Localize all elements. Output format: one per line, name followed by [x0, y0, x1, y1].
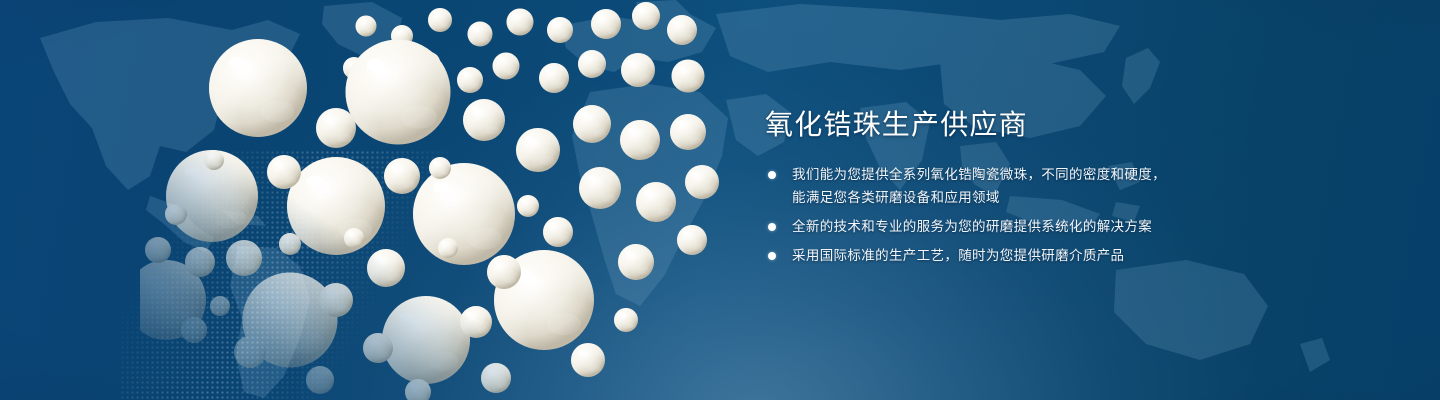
- bullet-dot-icon: [768, 252, 776, 260]
- list-item-line-1: 采用国际标准的生产工艺，随时为您提供研磨介质产品: [792, 248, 1124, 263]
- hero-banner: 氧化锆珠生产供应商 我们能为您提供全系列氧化锆陶瓷微珠，不同的密度和硬度， 能满…: [0, 0, 1440, 400]
- list-item-line-2: 能满足您各类研磨设备和应用领域: [792, 186, 1285, 209]
- list-item: 采用国际标准的生产工艺，随时为您提供研磨介质产品: [765, 244, 1285, 267]
- feature-list: 我们能为您提供全系列氧化锆陶瓷微珠，不同的密度和硬度， 能满足您各类研磨设备和应…: [765, 163, 1285, 267]
- list-item-line-1: 全新的技术和专业的服务为您的研磨提供系统化的解决方案: [792, 219, 1152, 234]
- list-item-text: 我们能为您提供全系列氧化锆陶瓷微珠，不同的密度和硬度， 能满足您各类研磨设备和应…: [792, 163, 1285, 209]
- page-title: 氧化锆珠生产供应商: [765, 108, 1285, 141]
- list-item: 全新的技术和专业的服务为您的研磨提供系统化的解决方案: [765, 215, 1285, 238]
- bullet-dot-icon: [768, 223, 776, 231]
- list-item-text: 全新的技术和专业的服务为您的研磨提供系统化的解决方案: [792, 215, 1285, 238]
- bullet-dot-icon: [768, 171, 776, 179]
- list-item-text: 采用国际标准的生产工艺，随时为您提供研磨介质产品: [792, 244, 1285, 267]
- list-item: 我们能为您提供全系列氧化锆陶瓷微珠，不同的密度和硬度， 能满足您各类研磨设备和应…: [765, 163, 1285, 209]
- list-item-line-1: 我们能为您提供全系列氧化锆陶瓷微珠，不同的密度和硬度，: [792, 167, 1166, 182]
- banner-copy: 氧化锆珠生产供应商 我们能为您提供全系列氧化锆陶瓷微珠，不同的密度和硬度， 能满…: [765, 108, 1285, 267]
